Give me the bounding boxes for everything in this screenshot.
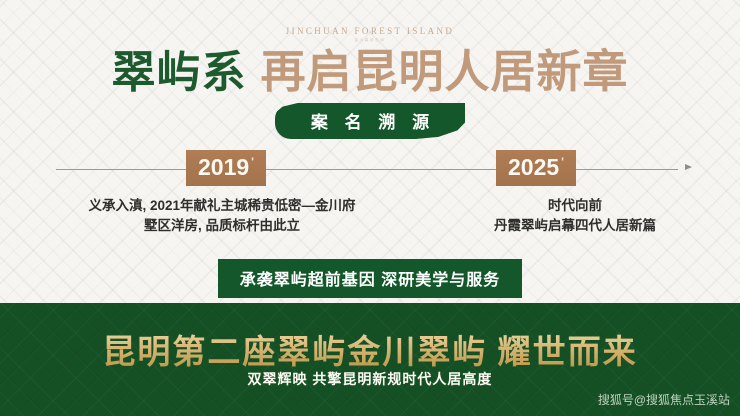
timeline-year-2025: 2025' <box>496 150 576 186</box>
footer-block: 昆明第二座翠屿金川翠屿 耀世而来 双翠辉映 共擎昆明新规时代人居高度 搜狐号@搜… <box>0 303 740 416</box>
brand-name-text: JINCHUAN FOREST ISLAND <box>0 26 740 36</box>
footer-title: 昆明第二座翠屿金川翠屿 耀世而来 <box>0 325 740 373</box>
brand-logo: JINCHUAN FOREST ISLAND 金川森林岛屿 <box>0 26 740 43</box>
headline-tan-text: 再启昆明人居新章 <box>260 47 628 97</box>
mid-banner-container: 承袭翠屿超前基因 深研美学与服务 <box>0 259 740 298</box>
section-badge-container: 案 名 溯 源 <box>0 103 740 139</box>
brand-subtitle-text: 金川森林岛屿 <box>0 38 740 43</box>
timeline-year-2019: 2019' <box>186 150 266 186</box>
poster-canvas: JINCHUAN FOREST ISLAND 金川森林岛屿 翠屿系再启昆明人居新… <box>0 0 740 416</box>
timeline-arrow-icon <box>685 164 692 170</box>
watermark-text: 搜狐号@搜狐焦点玉溪站 <box>598 391 730 408</box>
year-2019-tick-icon: ' <box>251 155 254 169</box>
timeline-2025-line2: 丹霞翠屿启幕四代人居新篇 <box>430 216 720 236</box>
status-badge: 案 名 溯 源 <box>275 103 465 139</box>
timeline-2019-line1: 义承入滇, 2021年献礼主城稀贵低密—金川府 <box>62 196 382 216</box>
year-2025-tick-icon: ' <box>561 155 564 169</box>
year-2019-label: 2019 <box>198 154 249 180</box>
timeline-axis-line <box>56 169 678 170</box>
timeline-description-2019: 义承入滇, 2021年献礼主城稀贵低密—金川府 墅区洋房, 品质标杆由此立 <box>62 196 382 235</box>
page-title: 翠屿系再启昆明人居新章 <box>0 50 740 95</box>
timeline: 2019' 2025' 义承入滇, 2021年献礼主城稀贵低密—金川府 墅区洋房… <box>0 150 740 240</box>
timeline-2025-line1: 时代向前 <box>430 196 720 216</box>
mid-banner-text: 承袭翠屿超前基因 深研美学与服务 <box>218 259 522 298</box>
year-2025-label: 2025 <box>508 154 559 180</box>
timeline-2019-line2: 墅区洋房, 品质标杆由此立 <box>62 216 382 236</box>
timeline-description-2025: 时代向前 丹霞翠屿启幕四代人居新篇 <box>430 196 720 235</box>
headline-green-text: 翠屿系 <box>111 48 246 97</box>
footer-subtitle: 双翠辉映 共擎昆明新规时代人居高度 <box>0 369 740 389</box>
